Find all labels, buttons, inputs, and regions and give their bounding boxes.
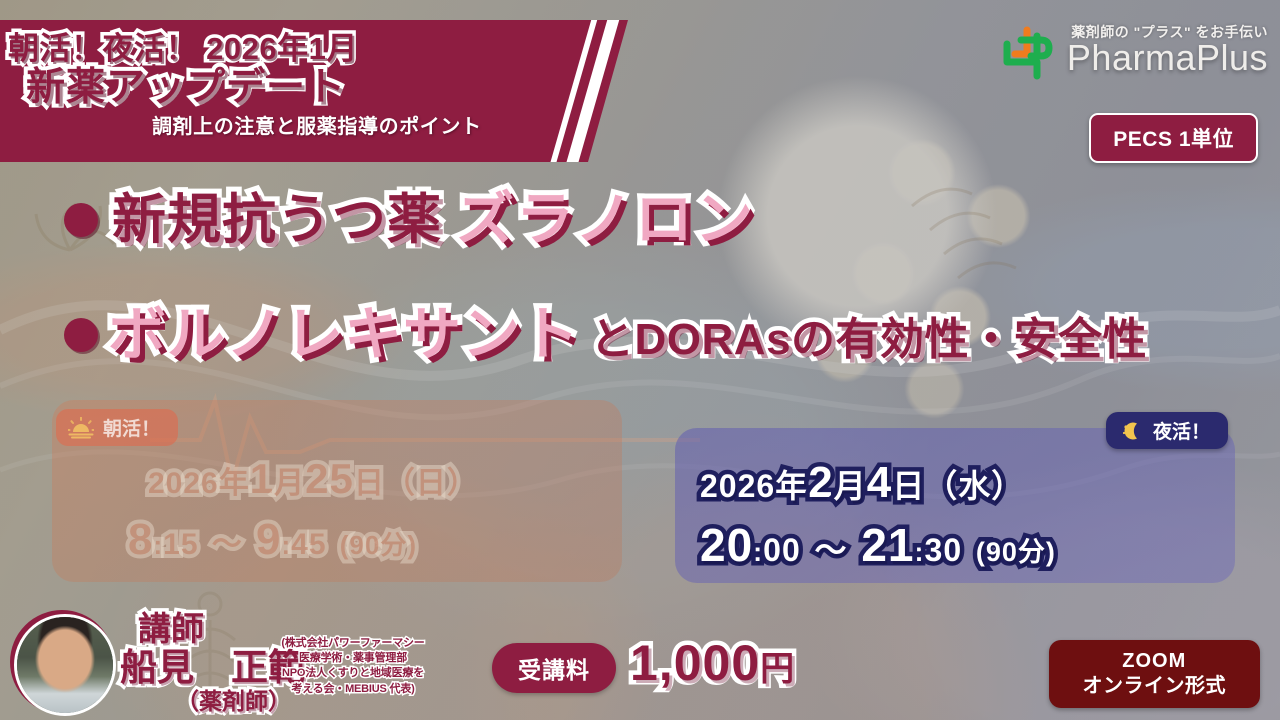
- fee-currency-unit: 円: [760, 650, 795, 688]
- bullet-dot-icon: [64, 318, 98, 352]
- fee-amount-number: 1,000: [630, 635, 760, 691]
- pm-day-num: 4: [867, 458, 892, 507]
- pm-month-unit: 月: [834, 468, 867, 504]
- am-tilde: 〜: [212, 528, 243, 561]
- am-weekday: （日）: [385, 467, 478, 500]
- pecs-credit-badge: PECS 1単位: [1089, 113, 1258, 163]
- pm-month-num: 2: [808, 458, 833, 507]
- logo-name: PharmaPlus: [1067, 40, 1268, 76]
- pm-duration: (90分): [976, 537, 1056, 567]
- am-month-num: 1: [250, 455, 274, 502]
- topic-1-label: 新規抗うつ薬: [112, 192, 442, 249]
- am-month-unit: 月: [274, 467, 305, 500]
- pm-end-min: 30: [925, 532, 963, 568]
- sunrise-icon: [68, 417, 94, 439]
- lecturer-affiliation: (株式会社パワーファーマシー 医療学術・薬事管理部 NPO法人くすりと地域医療を…: [272, 636, 434, 697]
- format-platform: ZOOM: [1083, 649, 1227, 673]
- topic-1-drug: ズラノロン: [456, 190, 755, 251]
- banner-line1: 朝活！夜活！ 2026年1月: [8, 32, 592, 65]
- session-date-evening: 2026年2月4日（水）: [700, 458, 1024, 508]
- topic-2-drug: ボルノレキサント: [108, 305, 580, 366]
- pm-tilde: 〜: [815, 532, 848, 568]
- session-badge-evening: 夜活！: [1106, 412, 1228, 449]
- fee-label-pill: 受講料: [492, 643, 616, 693]
- am-end-min: 45: [291, 528, 326, 561]
- session-badge-morning-label: 朝活！: [103, 414, 160, 441]
- pm-start-min: 00: [763, 532, 801, 568]
- am-day-num: 25: [305, 455, 354, 502]
- session-badge-evening-label: 夜活！: [1153, 417, 1210, 444]
- brand-logo: 薬剤師の "プラス" をお手伝い PharmaPlus: [997, 14, 1268, 84]
- format-badge: ZOOM オンライン形式: [1049, 640, 1261, 708]
- webinar-poster: 朝活！夜活！ 2026年1月 新薬アップデート 調剤上の注意と服薬指導のポイント…: [0, 0, 1280, 720]
- session-badge-morning: 朝活！: [56, 409, 178, 446]
- affiliation-line-1: (株式会社パワーファーマシー: [272, 636, 434, 651]
- topic-line-1: 新規抗うつ薬 ズラノロン: [64, 190, 755, 251]
- topic-line-2: ボルノレキサント とDORAsの有効性・安全性: [64, 305, 1147, 366]
- am-year: 2026年: [148, 467, 250, 500]
- session-date-morning: 2026年1月25日（日）: [148, 455, 478, 503]
- bullet-dot-icon: [64, 203, 98, 237]
- pharmaplus-cross-icon: [997, 22, 1059, 84]
- banner-line2: 新薬アップデート: [26, 67, 592, 109]
- header-banner: 朝活！夜活！ 2026年1月 新薬アップデート 調剤上の注意と服薬指導のポイント: [0, 20, 628, 162]
- am-start-hour: 8: [128, 515, 153, 564]
- lecturer-avatar: [10, 610, 114, 714]
- moon-icon: [1118, 420, 1144, 442]
- topic-2-label: とDORAsの有効性・安全性: [590, 317, 1147, 363]
- fee-amount: 1,000円: [630, 634, 795, 692]
- am-end-hour: 9: [256, 515, 281, 564]
- affiliation-line-3: NPO法人くすりと地域医療を: [272, 666, 434, 681]
- format-mode: オンライン形式: [1083, 673, 1227, 699]
- banner-line3: 調剤上の注意と服薬指導のポイント: [152, 116, 592, 138]
- pm-end-hour: 21: [861, 519, 914, 571]
- pm-start-hour: 20: [700, 519, 753, 571]
- affiliation-line-4: 考える会・MEBIUS 代表): [272, 682, 434, 697]
- pm-year: 2026年: [700, 468, 808, 504]
- session-time-evening: 20:00 〜 21:30 (90分): [700, 518, 1056, 572]
- affiliation-line-2: 医療学術・薬事管理部: [272, 651, 434, 666]
- pm-weekday: （水）: [925, 468, 1024, 504]
- am-duration: (90分): [340, 530, 417, 560]
- am-start-min: 15: [163, 528, 198, 561]
- pm-day-unit: 日: [892, 468, 925, 504]
- am-day-unit: 日: [354, 467, 385, 500]
- session-time-morning: 8:15 〜 9:45 (90分): [128, 515, 417, 565]
